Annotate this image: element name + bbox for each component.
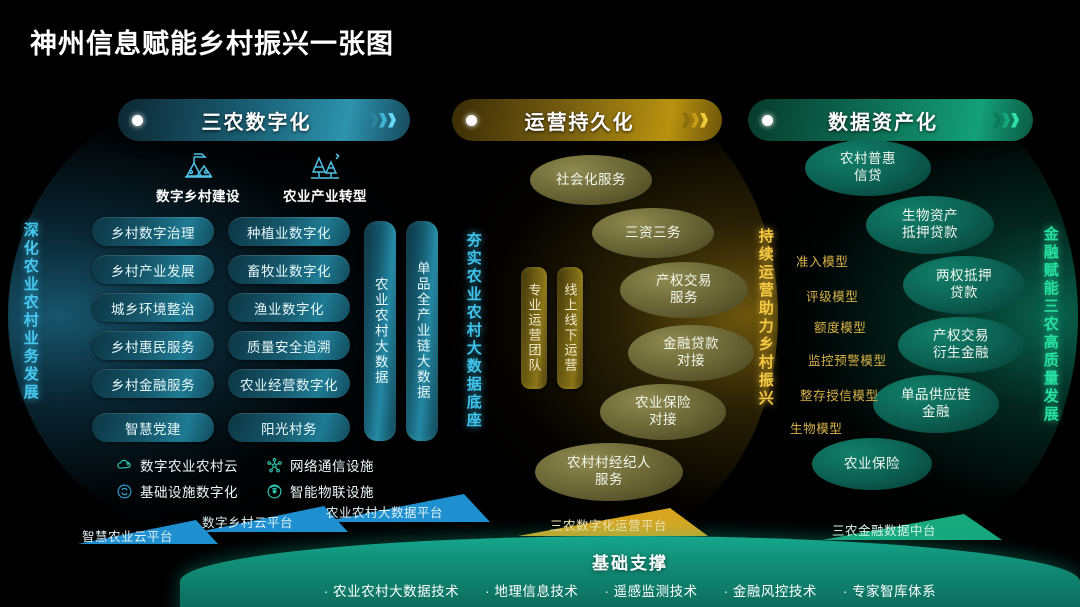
- platform-arrow-smart-agri[interactable]: 智慧农业云平台: [78, 512, 218, 544]
- ellipse-item[interactable]: 产权交易 服务: [620, 262, 748, 318]
- feature-item-cloud[interactable]: 数字农业农村云: [116, 455, 238, 475]
- page-title: 神州信息赋能乡村振兴一张图: [30, 22, 394, 61]
- iot-signal-icon: [266, 483, 283, 500]
- model-label: 评级模型: [806, 286, 858, 305]
- ellipse-item[interactable]: 农业保险 对接: [600, 384, 726, 440]
- tall-bar-label: 单品全产业链大数据: [415, 261, 429, 401]
- bullet-dot-icon: [132, 115, 143, 126]
- model-label: 生物模型: [790, 418, 842, 437]
- panel-header-asset[interactable]: 数据资产化: [748, 99, 1033, 141]
- platform-arrow-label: 三农数字化运营平台: [550, 515, 667, 534]
- pill-item[interactable]: 畜牧业数字化: [228, 255, 350, 284]
- ellipse-item[interactable]: 金融贷款 对接: [628, 325, 754, 381]
- tall-bar-agri-bigdata[interactable]: 农业农村大数据: [364, 221, 396, 441]
- feature-item-infra-digital[interactable]: 基础设施数字化: [116, 481, 238, 501]
- model-label: 监控预警模型: [808, 350, 887, 369]
- ellipse-label: 农村普惠 信贷: [840, 151, 896, 185]
- base-platform: 基础支撑 农业农村大数据技术 地理信息技术 遥感监测技术 金融风控技术 专家智库…: [180, 536, 1080, 607]
- base-item: 金融风控技术: [724, 580, 817, 600]
- cloud-network-icon: [116, 457, 133, 474]
- chevron-right-icon: [993, 113, 1019, 128]
- tall-bar-label: 农业农村大数据: [373, 277, 387, 386]
- panel-header-operation[interactable]: 运营持久化: [452, 99, 722, 141]
- side-label-sustained-ops: 持续运营助力乡村振兴: [757, 228, 773, 408]
- refresh-circle-icon: [116, 483, 133, 500]
- ellipse-label: 生物资产 抵押贷款: [902, 208, 958, 242]
- platform-arrow-label: 农业农村大数据平台: [326, 502, 443, 521]
- platform-arrow-finance-hub[interactable]: 三农金融数据中台: [822, 510, 1002, 540]
- pill-item[interactable]: 乡村惠民服务: [92, 331, 214, 360]
- pill-item-extra[interactable]: 阳光村务: [228, 413, 350, 442]
- ellipse-label: 单品供应链 金融: [901, 387, 971, 421]
- base-item: 农业农村大数据技术: [324, 580, 459, 600]
- base-item: 地理信息技术: [485, 580, 578, 600]
- pill-item[interactable]: 渔业数字化: [228, 293, 350, 322]
- side-label-deepen-agri: 深化农业农村业务发展: [22, 222, 38, 402]
- gold-bar-ops-team[interactable]: 专业运营团队: [521, 267, 547, 389]
- bullet-dot-icon: [762, 115, 773, 126]
- panel-header-label: 三农数字化: [143, 106, 370, 135]
- pill-item[interactable]: 质量安全追溯: [228, 331, 350, 360]
- chevron-right-icon: [370, 113, 396, 128]
- ellipse-item[interactable]: 单品供应链 金融: [873, 375, 999, 433]
- ellipse-label: 农业保险 对接: [635, 395, 691, 429]
- ellipse-item[interactable]: 产权交易 衍生金融: [898, 317, 1024, 373]
- panel-header-label: 数据资产化: [773, 106, 993, 135]
- gold-bar-online-offline[interactable]: 线上线下运营: [557, 267, 583, 389]
- icon-group-label: 农业产业转型: [265, 185, 385, 205]
- platform-arrow-label: 数字乡村云平台: [202, 512, 293, 531]
- ellipse-label: 农村村经纪人 服务: [567, 455, 651, 489]
- infographic-canvas: 神州信息赋能乡村振兴一张图 三农数字化 运营持久化 数据资产化 深化农业农村业务…: [0, 0, 1080, 607]
- ellipse-item[interactable]: 三资三务: [592, 208, 714, 258]
- pill-item[interactable]: 乡村产业发展: [92, 255, 214, 284]
- platform-arrow-label: 三农金融数据中台: [832, 520, 936, 539]
- pill-item[interactable]: 乡村金融服务: [92, 369, 214, 398]
- forest-tree-icon: [265, 148, 385, 182]
- platform-arrow-agri-bigdata[interactable]: 农业农村大数据平台: [322, 488, 490, 522]
- ellipse-item[interactable]: 农村普惠 信贷: [805, 140, 931, 196]
- ellipse-item[interactable]: 社会化服务: [530, 155, 652, 205]
- feature-item-network[interactable]: 网络通信设施: [266, 455, 374, 475]
- ellipse-item[interactable]: 生物资产 抵押贷款: [866, 196, 994, 254]
- model-label: 整存授信模型: [800, 385, 879, 404]
- ellipse-label: 金融贷款 对接: [663, 336, 719, 370]
- ellipse-label: 产权交易 服务: [656, 273, 712, 307]
- ellipse-item[interactable]: 农业保险: [812, 438, 932, 490]
- panel-header-digital[interactable]: 三农数字化: [118, 99, 410, 141]
- village-mountain-icon: [138, 148, 258, 182]
- model-label: 额度模型: [814, 317, 866, 336]
- base-platform-items: 农业农村大数据技术 地理信息技术 遥感监测技术 金融风控技术 专家智库体系: [180, 580, 1080, 600]
- side-label-finance-empower: 金融赋能三农高质量发展: [1042, 226, 1058, 424]
- pill-item[interactable]: 农业经营数字化: [228, 369, 350, 398]
- bullet-dot-icon: [466, 115, 477, 126]
- pill-item[interactable]: 乡村数字治理: [92, 217, 214, 246]
- feature-label: 网络通信设施: [290, 455, 374, 475]
- panel-header-label: 运营持久化: [477, 106, 682, 135]
- base-platform-title: 基础支撑: [180, 549, 1080, 574]
- tall-bar-product-chain[interactable]: 单品全产业链大数据: [406, 221, 438, 441]
- network-node-icon: [266, 457, 283, 474]
- pill-item-extra[interactable]: 智慧党建: [92, 413, 214, 442]
- icon-group-label: 数字乡村建设: [138, 185, 258, 205]
- feature-label: 基础设施数字化: [140, 481, 238, 501]
- chevron-right-icon: [682, 113, 708, 128]
- side-label-bigdata-base: 夯实农业农村大数据底座: [465, 232, 481, 430]
- icon-group-forest: 农业产业转型: [265, 148, 385, 205]
- gold-bar-label: 专业运营团队: [528, 283, 541, 373]
- pill-item[interactable]: 城乡环境整治: [92, 293, 214, 322]
- ellipse-label: 产权交易 衍生金融: [933, 328, 989, 362]
- base-item: 遥感监测技术: [604, 580, 697, 600]
- gold-bar-label: 线上线下运营: [564, 283, 577, 373]
- icon-group-village: 数字乡村建设: [138, 148, 258, 205]
- platform-arrow-label: 智慧农业云平台: [82, 526, 173, 545]
- model-label: 准入模型: [796, 251, 848, 270]
- feature-label: 数字农业农村云: [140, 455, 238, 475]
- base-item: 专家智库体系: [843, 580, 936, 600]
- platform-arrow-ops-platform[interactable]: 三农数字化运营平台: [518, 506, 708, 536]
- pill-item[interactable]: 种植业数字化: [228, 217, 350, 246]
- ellipse-item[interactable]: 农村村经纪人 服务: [535, 443, 683, 501]
- ellipse-label: 两权抵押 贷款: [936, 268, 992, 302]
- ellipse-item[interactable]: 两权抵押 贷款: [903, 256, 1025, 314]
